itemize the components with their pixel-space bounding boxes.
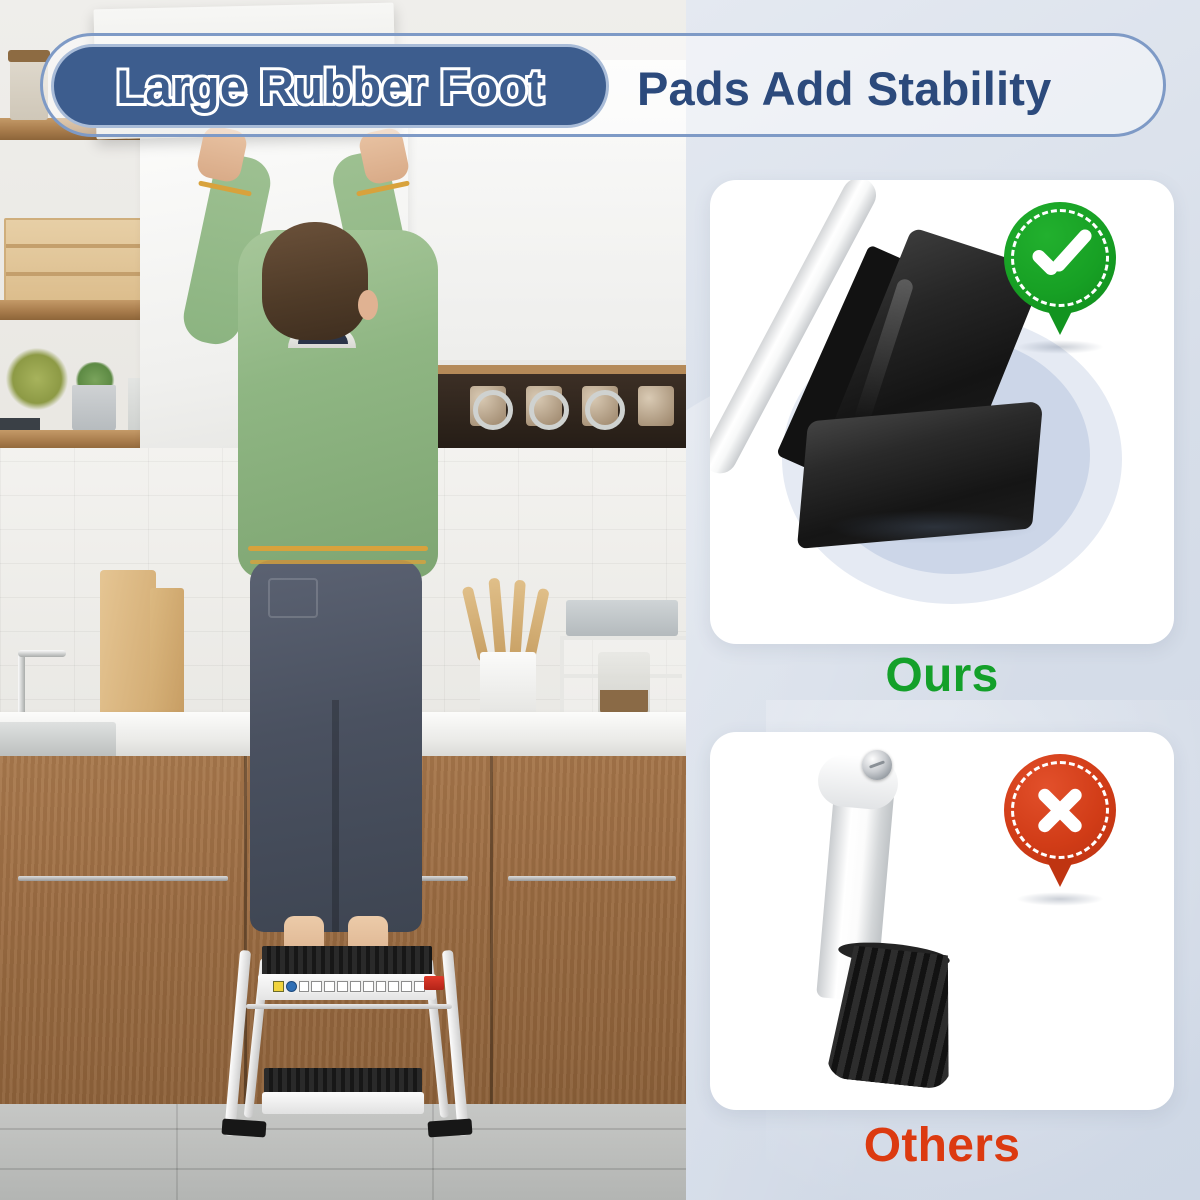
headline-highlight-pill: Large Rubber Foot bbox=[51, 44, 609, 128]
check-badge bbox=[1004, 202, 1116, 314]
stool-lower-tread bbox=[264, 1068, 422, 1094]
niche-jar-lid bbox=[473, 390, 513, 430]
niche-jar-lid bbox=[585, 390, 625, 430]
others-label: Others bbox=[710, 1118, 1174, 1173]
ours-product-card bbox=[710, 180, 1174, 644]
cabinet-handle bbox=[18, 876, 228, 881]
cross-badge bbox=[1004, 754, 1116, 866]
safety-pictogram-icon bbox=[324, 981, 335, 992]
floor-grout-line bbox=[0, 1168, 686, 1170]
dried-wreath bbox=[0, 342, 76, 416]
safety-pictogram-icon bbox=[388, 981, 399, 992]
safety-pictogram-icon bbox=[376, 981, 387, 992]
child-head bbox=[262, 222, 368, 340]
badge-pointer bbox=[1045, 305, 1075, 335]
badge-shadow bbox=[1016, 340, 1104, 354]
cutting-board-small bbox=[150, 588, 184, 722]
check-icon bbox=[1026, 226, 1094, 288]
safety-pictogram-icon bbox=[337, 981, 348, 992]
folded-cloth bbox=[566, 600, 678, 636]
shirt-hem-stripe bbox=[248, 546, 428, 551]
cross-icon bbox=[1032, 782, 1088, 838]
stool-upper-tread bbox=[262, 946, 432, 976]
niche-jar-lid bbox=[529, 390, 569, 430]
lifestyle-photo bbox=[0, 0, 686, 1200]
cabinet-handle bbox=[508, 876, 676, 881]
plant-pot bbox=[72, 385, 116, 431]
shirt-hem-stripe bbox=[250, 560, 426, 564]
warning-triangle-icon bbox=[273, 981, 284, 992]
headline-banner: Large Rubber Foot Pads Add Stability bbox=[40, 33, 1166, 137]
storage-jar bbox=[598, 652, 650, 718]
badge-pointer bbox=[1045, 857, 1075, 887]
stool-lower-step-frame bbox=[262, 1092, 424, 1114]
others-product-card bbox=[710, 732, 1174, 1110]
shelf-jar-lid bbox=[8, 50, 50, 62]
ours-label: Ours bbox=[710, 648, 1174, 703]
cabinet-display-niche bbox=[430, 365, 686, 461]
product-infographic: Ours Others Large Rubber Foot Pads Add S… bbox=[0, 0, 1200, 1200]
stool-rubber-foot-pad bbox=[427, 1118, 472, 1137]
stool-rubber-foot-pad bbox=[221, 1118, 266, 1137]
headline-highlight-text: Large Rubber Foot bbox=[116, 59, 543, 114]
child-ear bbox=[358, 290, 378, 320]
safety-pictogram-icon bbox=[363, 981, 374, 992]
stool-red-latch bbox=[424, 976, 444, 990]
wooden-crate bbox=[4, 218, 158, 304]
safety-pictogram-icon bbox=[401, 981, 412, 992]
screw-icon bbox=[862, 750, 892, 780]
headline-rest-text: Pads Add Stability bbox=[637, 36, 1157, 140]
niche-jar bbox=[638, 386, 674, 426]
floor-grout-line bbox=[176, 1104, 178, 1200]
jogger-pocket bbox=[268, 578, 318, 618]
stool-cross-brace bbox=[246, 1004, 452, 1009]
manual-info-icon bbox=[286, 981, 297, 992]
stool-warning-label bbox=[270, 980, 425, 993]
step-stool bbox=[228, 944, 468, 1140]
kitchen-sink bbox=[0, 722, 116, 760]
cutting-board-large bbox=[100, 570, 156, 722]
safety-pictogram-icon bbox=[350, 981, 361, 992]
comparison-panel: Ours Others bbox=[686, 0, 1200, 1200]
jogger-leg-split bbox=[332, 700, 339, 932]
badge-shadow bbox=[1016, 892, 1104, 906]
safety-pictogram-icon bbox=[299, 981, 310, 992]
rubber-pad-shadow bbox=[828, 510, 1040, 544]
safety-pictogram-icon bbox=[311, 981, 322, 992]
cabinet-seam bbox=[490, 756, 493, 1108]
